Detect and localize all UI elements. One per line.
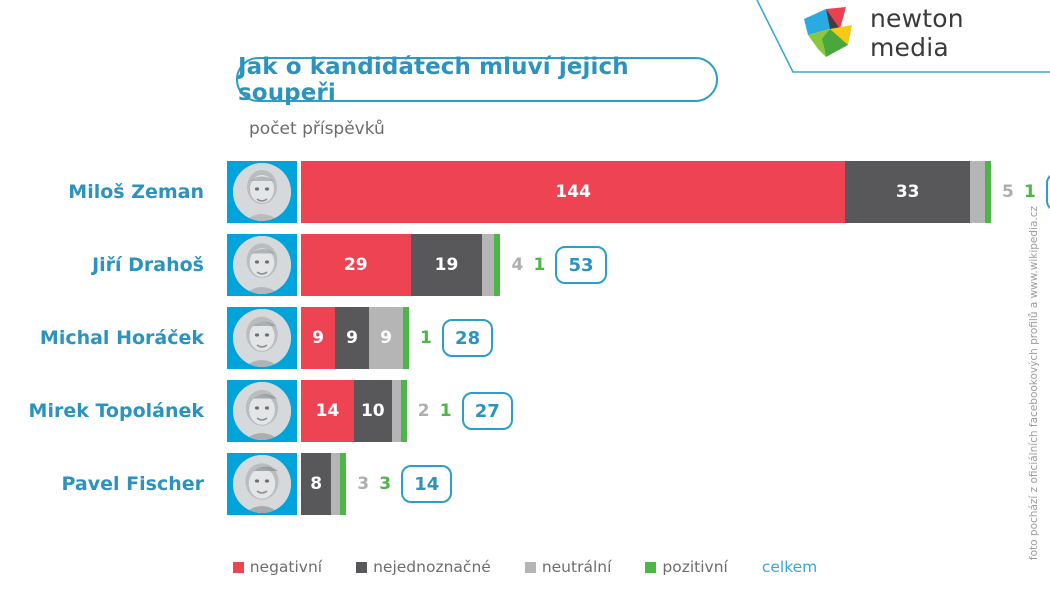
bar-value-positive-outside: 1 xyxy=(420,307,432,369)
legend-label: neutrální xyxy=(542,558,612,576)
stacked-bar: 14102127 xyxy=(301,380,407,442)
legend-swatch-icon xyxy=(233,562,244,573)
bar-segment-negative: 9 xyxy=(301,307,335,369)
avatar-milos-zeman xyxy=(227,161,297,223)
chart-row: Mirek Topolánek14102127 xyxy=(0,380,1050,453)
stacked-bar: 1443351183 xyxy=(301,161,991,223)
bar-segment-neutral xyxy=(331,453,340,515)
brand-name: newton media xyxy=(870,4,1050,62)
legend-item-neutrální: neutrální xyxy=(525,558,612,576)
page-title-text: Jak o kandidátech mluví jejich soupeři xyxy=(238,54,716,106)
total-badge: 14 xyxy=(401,465,452,503)
stacked-bar: 83314 xyxy=(301,453,346,515)
candidate-name: Michal Horáček xyxy=(0,307,224,369)
legend-label: pozitivní xyxy=(662,558,727,576)
legend-swatch-icon xyxy=(645,562,656,573)
total-badge: 53 xyxy=(555,246,606,284)
bar-value-positive-outside: 1 xyxy=(533,234,545,296)
candidate-name-cell: Jiří Drahoš xyxy=(0,234,224,296)
legend-swatch-icon xyxy=(356,562,367,573)
bar-segment-negative: 29 xyxy=(301,234,411,296)
bar-segment-ambiguous: 10 xyxy=(354,380,392,442)
bar-segment-neutral xyxy=(970,161,985,223)
candidate-photo xyxy=(233,382,291,440)
bar-segment-ambiguous: 8 xyxy=(301,453,331,515)
avatar-mirek-topolanek xyxy=(227,380,297,442)
bar-segment-negative: 14 xyxy=(301,380,354,442)
chart-subtitle: počet příspěvků xyxy=(249,119,385,139)
bar-segment-negative: 144 xyxy=(301,161,845,223)
bar-value-neutral-outside: 2 xyxy=(418,380,430,442)
bar-segment-neutral xyxy=(392,380,401,442)
legend-label: nejednoznačné xyxy=(373,558,491,576)
newton-pinwheel-logo-icon xyxy=(800,5,858,61)
candidate-name: Miloš Zeman xyxy=(0,161,224,223)
legend-label: negativní xyxy=(250,558,322,576)
brand-logo: newton media xyxy=(800,4,1050,62)
legend-swatch-icon xyxy=(525,562,536,573)
bar-segment-neutral xyxy=(482,234,494,296)
legend-item-total: celkem xyxy=(762,558,817,576)
chart-row: Pavel Fischer83314 xyxy=(0,453,1050,526)
bar-value-ambiguous: 9 xyxy=(346,328,358,348)
stacked-bar: 999128 xyxy=(301,307,409,369)
bar-value-neutral: 9 xyxy=(380,328,392,348)
bar-segment-ambiguous: 19 xyxy=(411,234,483,296)
bar-segment-ambiguous: 9 xyxy=(335,307,369,369)
bar-value-neutral-outside: 5 xyxy=(1002,161,1014,223)
candidate-photo xyxy=(233,163,291,221)
legend-item-nejednoznačné: nejednoznačné xyxy=(356,558,491,576)
bar-segment-positive xyxy=(403,307,409,369)
candidate-photo xyxy=(233,455,291,513)
candidate-photo xyxy=(233,236,291,294)
candidate-name: Pavel Fischer xyxy=(0,453,224,515)
bar-value-positive-outside: 3 xyxy=(379,453,391,515)
bar-value-ambiguous: 19 xyxy=(435,255,459,275)
candidate-name-cell: Pavel Fischer xyxy=(0,453,224,515)
total-badge: 27 xyxy=(462,392,513,430)
stacked-bar: 29194153 xyxy=(301,234,500,296)
photo-credit-text: foto pochází z oficiálních facebookových… xyxy=(1028,206,1040,560)
total-badge: 28 xyxy=(442,319,493,357)
legend-label-total: celkem xyxy=(762,558,817,576)
candidate-name: Mirek Topolánek xyxy=(0,380,224,442)
legend-item-negativní: negativní xyxy=(233,558,322,576)
legend-item-pozitivní: pozitivní xyxy=(645,558,727,576)
candidate-name-cell: Miloš Zeman xyxy=(0,161,224,223)
candidate-name: Jiří Drahoš xyxy=(0,234,224,296)
bar-segment-positive xyxy=(494,234,500,296)
chart-row: Miloš Zeman1443351183 xyxy=(0,161,1050,234)
bar-value-negative: 144 xyxy=(555,182,591,202)
bar-segment-positive xyxy=(340,453,346,515)
bar-value-ambiguous: 10 xyxy=(361,401,385,421)
bar-segment-positive xyxy=(401,380,407,442)
bar-value-negative: 14 xyxy=(316,401,340,421)
bar-value-positive-outside: 1 xyxy=(440,380,452,442)
avatar-michal-horacek xyxy=(227,307,297,369)
page-title: Jak o kandidátech mluví jejich soupeři xyxy=(236,57,718,102)
bar-value-negative: 9 xyxy=(312,328,324,348)
bar-segment-neutral: 9 xyxy=(369,307,403,369)
total-badge: 183 xyxy=(1046,173,1050,211)
bar-value-ambiguous: 33 xyxy=(896,182,920,202)
avatar-jiri-drahos xyxy=(227,234,297,296)
bar-value-negative: 29 xyxy=(344,255,368,275)
bar-segment-ambiguous: 33 xyxy=(845,161,970,223)
candidate-name-cell: Mirek Topolánek xyxy=(0,380,224,442)
chart-row: Michal Horáček999128 xyxy=(0,307,1050,380)
chart-rows: Miloš Zeman1443351183Jiří Drahoš29194153… xyxy=(0,161,1050,526)
bar-value-ambiguous: 8 xyxy=(310,474,322,494)
candidate-photo xyxy=(233,309,291,367)
bar-value-neutral-outside: 3 xyxy=(357,453,369,515)
avatar-pavel-fischer xyxy=(227,453,297,515)
candidate-name-cell: Michal Horáček xyxy=(0,307,224,369)
bar-value-neutral-outside: 4 xyxy=(511,234,523,296)
chart-row: Jiří Drahoš29194153 xyxy=(0,234,1050,307)
photo-credit: foto pochází z oficiálních facebookových… xyxy=(1023,160,1045,560)
bar-segment-positive xyxy=(985,161,991,223)
chart-legend: negativnínejednoznačnéneutrálnípozitivní… xyxy=(0,558,1050,576)
